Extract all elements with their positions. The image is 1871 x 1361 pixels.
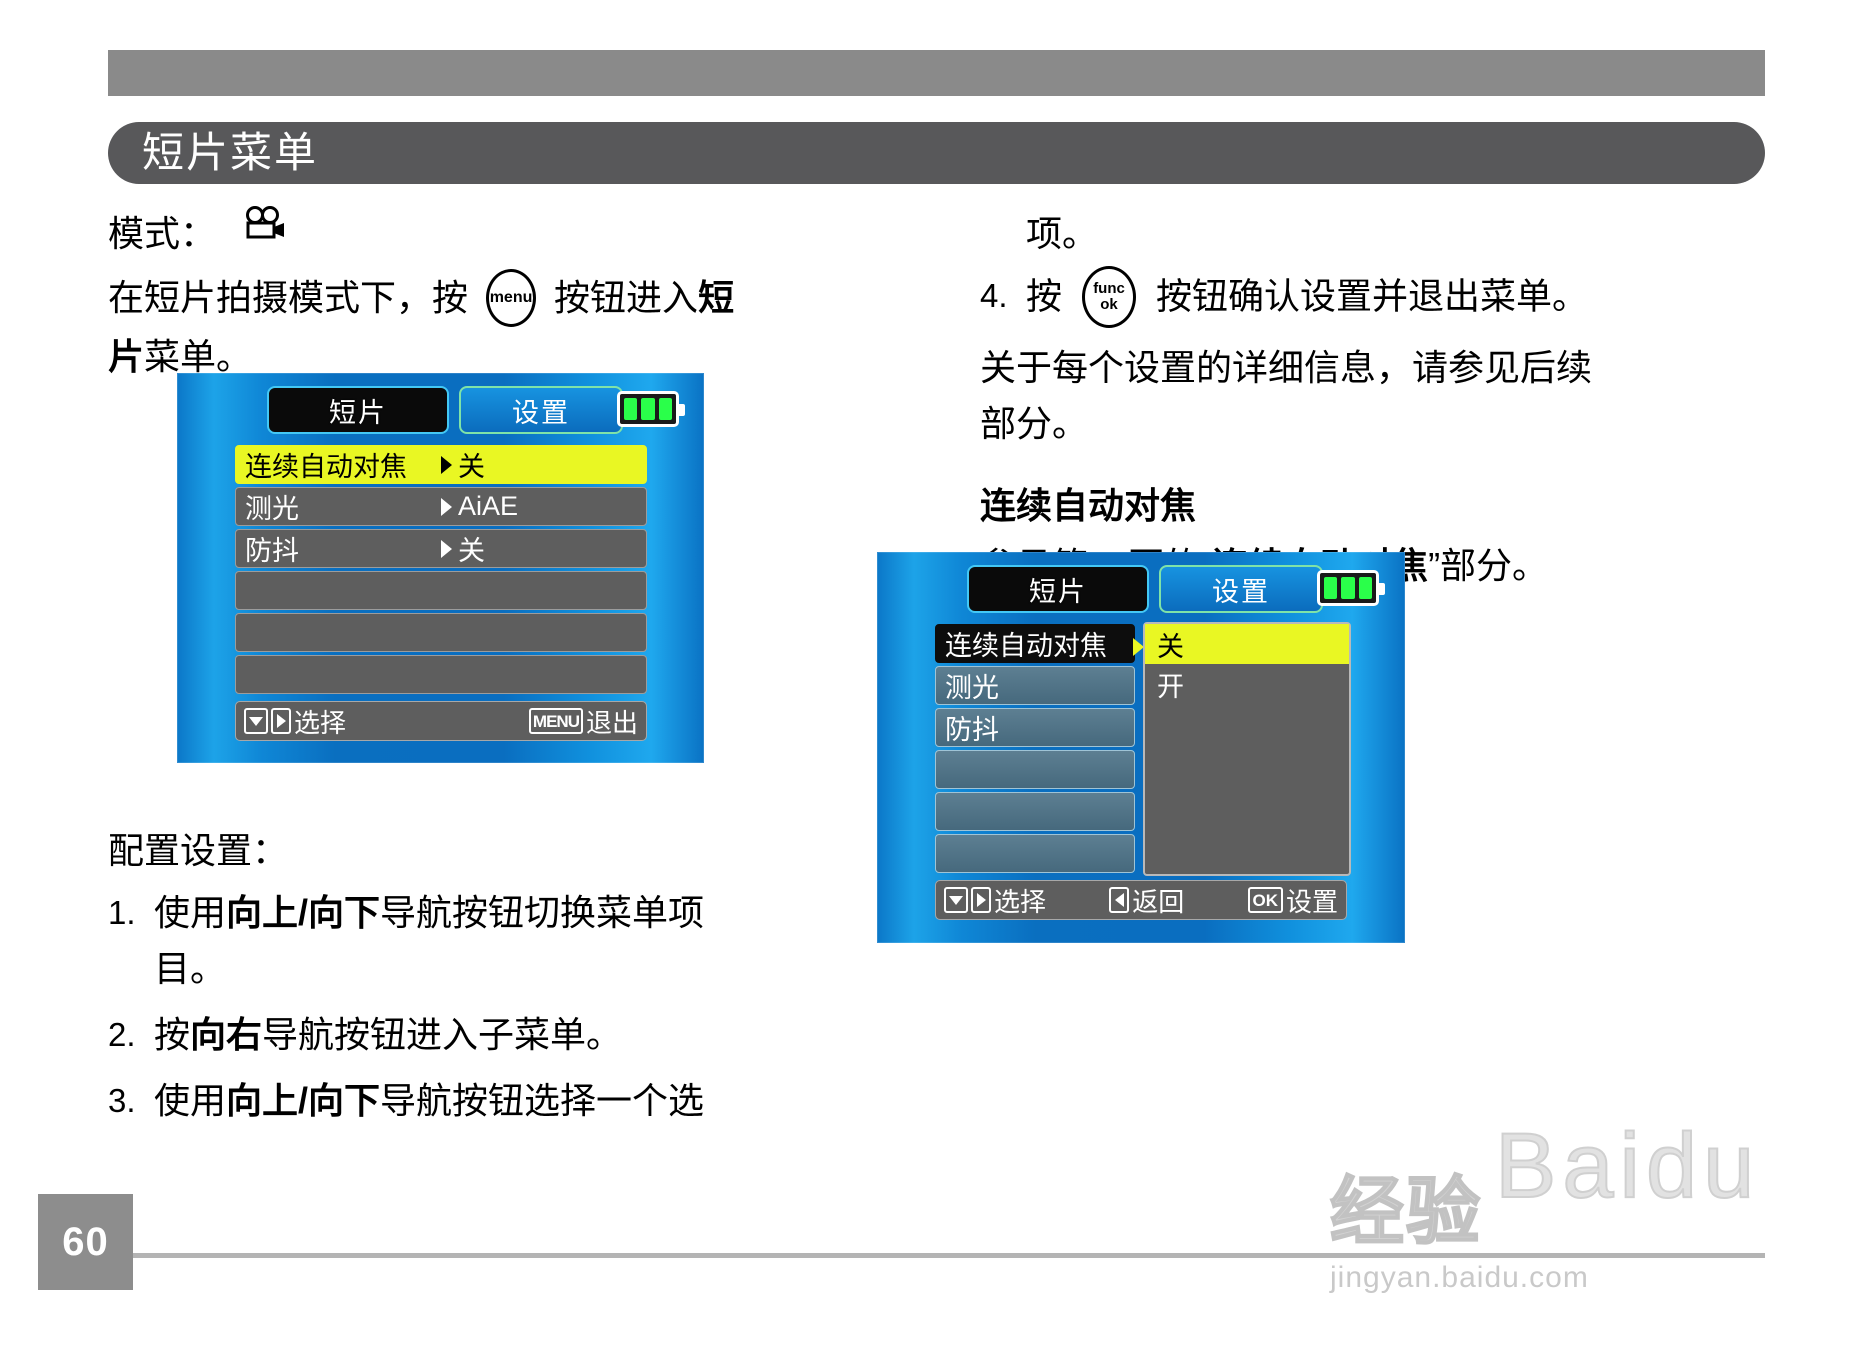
movie-camera-icon xyxy=(242,206,288,262)
step-number-1: 1. xyxy=(108,885,154,997)
lcd2-hint-back-label: 返回 xyxy=(1132,882,1184,919)
step1-part-a: 使用 xyxy=(154,892,226,933)
step3-part-b: 向上/向下 xyxy=(226,1080,380,1121)
lcd1-row-continuous-af-value: 关 xyxy=(441,445,485,484)
menu-button-label: menu xyxy=(489,272,533,324)
header-band xyxy=(108,50,1765,96)
dpad-left-key-icon xyxy=(1109,887,1129,913)
lcd2-hint-bar: 选择 返回 OK 设置 xyxy=(935,880,1347,920)
intro-bold-1: 短 xyxy=(698,277,734,318)
lcd2-row-empty-1[interactable] xyxy=(935,750,1135,789)
step-number-2: 2. xyxy=(108,1007,154,1063)
caret-right-icon xyxy=(441,498,452,516)
dpad-right-key-icon xyxy=(971,887,991,913)
mode-label: 模式： xyxy=(108,206,216,262)
lcd1-row-empty-2[interactable] xyxy=(235,613,647,652)
lcd2-hint-select: 选择 xyxy=(944,882,1046,919)
step2-part-a: 按 xyxy=(154,1014,190,1055)
lcd1-row-stabilization-value: 关 xyxy=(441,529,485,568)
lcd1-tab-bar: 短片 设置 xyxy=(267,386,623,434)
lcd1-tab-movie[interactable]: 短片 xyxy=(267,386,449,434)
section-heading: 连续自动对焦 xyxy=(980,478,1770,534)
lcd2-tab-bar: 短片 设置 xyxy=(967,565,1323,613)
lcd2-submenu-option-on[interactable]: 开 xyxy=(1145,664,1349,704)
lcd2-tab-movie[interactable]: 短片 xyxy=(967,565,1149,613)
lcd1-menu-list: 连续自动对焦 关 测光 AiAE 防抖 关 xyxy=(235,445,647,694)
lcd1-hint-bar: 选择 MENU 退出 xyxy=(235,701,647,741)
lcd2-hint-select-label: 选择 xyxy=(994,882,1046,919)
page-number: 60 xyxy=(62,1220,109,1265)
mode-line: 模式： xyxy=(108,206,808,262)
lcd1-hint-exit-label: 退出 xyxy=(586,703,638,740)
lcd1-hint-select-label: 选择 xyxy=(294,703,346,740)
lcd2-row-empty-3[interactable] xyxy=(935,834,1135,873)
lcd1-row-stabilization-label: 防抖 xyxy=(236,529,299,568)
lcd2-hint-set-label: 设置 xyxy=(1286,882,1338,919)
page-number-badge: 60 xyxy=(38,1194,133,1290)
lcd1-hint-exit: MENU 退出 xyxy=(529,703,638,740)
camera-lcd-screenshot-2: 短片 设置 连续自动对焦 测光 防抖 关 开 选择 返回 xyxy=(877,552,1405,943)
page-title: 短片菜单 xyxy=(142,132,318,174)
func-button-bottom-label: ok xyxy=(1100,297,1118,313)
lcd2-menu-list: 连续自动对焦 测光 防抖 xyxy=(935,624,1135,873)
lcd2-row-continuous-af[interactable]: 连续自动对焦 xyxy=(935,624,1135,663)
intro-line2-bold: 片 xyxy=(108,336,144,377)
lcd1-hint-select: 选择 xyxy=(244,703,346,740)
footer-divider xyxy=(133,1253,1765,1258)
lcd1-row-stabilization[interactable]: 防抖 关 xyxy=(235,529,647,568)
lcd1-row-metering-label: 测光 xyxy=(236,487,299,526)
caret-right-icon xyxy=(441,540,452,558)
dpad-down-key-icon xyxy=(244,708,268,734)
ok-key-icon: OK xyxy=(1248,887,1284,913)
step4-after: 按钮确认设置并退出菜单。 xyxy=(1156,276,1588,317)
step3-part-a: 使用 xyxy=(154,1080,226,1121)
watermark-logo: Baidu xyxy=(1495,1120,1760,1212)
step-text-1: 使用向上/向下导航按钮切换菜单项 目。 xyxy=(154,885,808,997)
lcd1-tab-settings[interactable]: 设置 xyxy=(459,386,623,434)
camera-lcd-screenshot-1: 短片 设置 连续自动对焦 关 测光 AiAE 防抖 关 xyxy=(177,373,704,763)
detail-paragraph: 关于每个设置的详细信息，请参见后续 部分。 xyxy=(980,340,1770,452)
caret-right-icon xyxy=(441,456,452,474)
lcd2-row-empty-2[interactable] xyxy=(935,792,1135,831)
lcd1-row-empty-1[interactable] xyxy=(235,571,647,610)
func-ok-button-icon: func ok xyxy=(1082,266,1136,328)
lcd1-row-stabilization-value-text: 关 xyxy=(458,529,485,568)
step4-before: 按 xyxy=(1026,276,1062,317)
lcd1-row-continuous-af-value-text: 关 xyxy=(458,445,485,484)
step1-part-b: 向上/向下 xyxy=(226,892,380,933)
page-title-banner: 短片菜单 xyxy=(108,122,1765,184)
step-item-3: 3. 使用向上/向下导航按钮选择一个选 xyxy=(108,1073,808,1129)
step3-part-c: 导航按钮选择一个选 xyxy=(380,1080,704,1121)
battery-full-icon xyxy=(617,391,679,427)
step1-part-c: 导航按钮切换菜单项 xyxy=(380,892,704,933)
right-column: 项。 4. 按 func ok 按钮确认设置并退出菜单。 关于每个设置的详细信息… xyxy=(980,206,1770,600)
lcd1-row-metering[interactable]: 测光 AiAE xyxy=(235,487,647,526)
reference-after: ”部分。 xyxy=(1428,545,1548,586)
step-item-1: 1. 使用向上/向下导航按钮切换菜单项 目。 xyxy=(108,885,808,997)
lcd1-row-metering-value: AiAE xyxy=(441,491,518,522)
intro-paragraph: 在短片拍摄模式下，按 menu 按钮进入短 片菜单。 xyxy=(108,270,808,385)
step1-continuation: 目。 xyxy=(154,948,226,989)
step-item-2: 2. 按向右导航按钮进入子菜单。 xyxy=(108,1007,808,1063)
step-text-3: 使用向上/向下导航按钮选择一个选 xyxy=(154,1073,808,1129)
detail-line-2: 部分。 xyxy=(980,403,1088,444)
menu-key-icon: MENU xyxy=(529,708,583,734)
step2-part-b: 向右 xyxy=(190,1014,262,1055)
lcd2-row-metering-label: 测光 xyxy=(936,666,999,705)
lcd2-row-stabilization[interactable]: 防抖 xyxy=(935,708,1135,747)
lcd1-row-continuous-af-label: 连续自动对焦 xyxy=(236,445,407,484)
lcd2-hint-set: OK 设置 xyxy=(1248,882,1339,919)
step-text-2: 按向右导航按钮进入子菜单。 xyxy=(154,1007,808,1063)
step-number-3: 3. xyxy=(108,1073,154,1129)
step-text-4: 按 func ok 按钮确认设置并退出菜单。 xyxy=(1026,268,1770,330)
step2-part-c: 导航按钮进入子菜单。 xyxy=(262,1014,622,1055)
lcd2-tab-settings[interactable]: 设置 xyxy=(1159,565,1323,613)
func-button-top-label: func xyxy=(1093,281,1125,297)
config-heading: 配置设置： xyxy=(108,823,808,879)
lcd2-hint-back: 返回 xyxy=(1109,882,1184,919)
step-item-4: 4. 按 func ok 按钮确认设置并退出菜单。 xyxy=(980,268,1770,330)
dpad-right-key-icon xyxy=(271,708,291,734)
step-number-4: 4. xyxy=(980,268,1026,330)
lcd2-row-continuous-af-label: 连续自动对焦 xyxy=(936,624,1107,663)
lcd2-submenu-option-off[interactable]: 关 xyxy=(1145,624,1349,664)
intro-line2-rest: 菜单。 xyxy=(144,336,252,377)
lcd1-row-metering-value-text: AiAE xyxy=(458,491,518,522)
dpad-down-key-icon xyxy=(944,887,968,913)
detail-line-1: 关于每个设置的详细信息，请参见后续 xyxy=(980,347,1592,388)
lcd2-row-stabilization-label: 防抖 xyxy=(936,708,999,747)
intro-text-before: 在短片拍摄模式下，按 xyxy=(108,277,468,318)
intro-text-after: 按钮进入 xyxy=(554,277,698,318)
battery-full-icon xyxy=(1317,570,1379,606)
continuation-text: 项。 xyxy=(1026,206,1770,262)
lcd2-submenu: 关 开 xyxy=(1143,622,1351,876)
lcd1-row-empty-3[interactable] xyxy=(235,655,647,694)
watermark-url: jingyan.baidu.com xyxy=(1330,1261,1800,1295)
menu-button-icon: menu xyxy=(486,269,536,327)
lcd1-row-continuous-af[interactable]: 连续自动对焦 关 xyxy=(235,445,647,484)
lcd2-row-metering[interactable]: 测光 xyxy=(935,666,1135,705)
